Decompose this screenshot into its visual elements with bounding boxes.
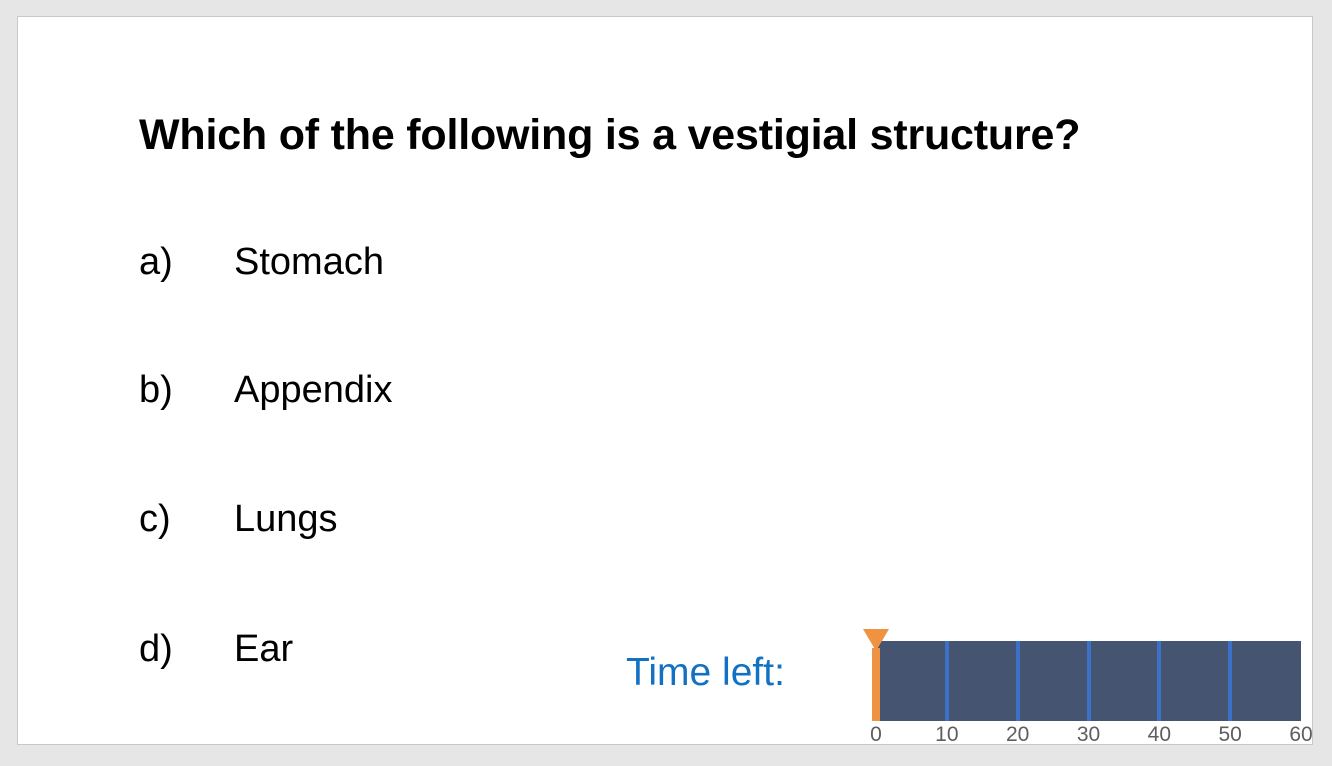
timer-bar-track [876,641,1301,721]
axis-tick-label: 20 [1006,723,1029,747]
chart-gridline [945,641,949,721]
slide-canvas: Which of the following is a vestigial st… [17,16,1313,745]
timer-label: Time left: [626,651,785,695]
axis-tick-label: 30 [1077,723,1100,747]
timer-bar-chart: 0102030405060 [863,609,1302,751]
answer-option-d-letter: d) [139,628,234,671]
countdown-timer-widget: Time left: 0102030405060 [626,609,1302,751]
answer-option-b-text: Appendix [234,369,392,412]
chart-gridline [1016,641,1020,721]
axis-tick-label: 40 [1148,723,1171,747]
answer-option-a-text: Stomach [234,241,384,284]
answer-option-a-letter: a) [139,241,234,284]
answer-option-d-text: Ear [234,628,293,671]
page-title: Which of the following is a vestigial st… [139,111,1080,160]
axis-tick-label: 10 [935,723,958,747]
chart-gridline [1157,641,1161,721]
answer-option-c-letter: c) [139,498,234,541]
axis-tick-label: 50 [1218,723,1241,747]
timer-axis: 0102030405060 [863,721,1302,751]
axis-tick-label: 60 [1289,723,1312,747]
answer-option-c-text: Lungs [234,498,338,541]
answer-option-a[interactable]: a)Stomach [139,241,384,284]
chart-gridline [1087,641,1091,721]
chart-gridline [1228,641,1232,721]
axis-tick-label: 0 [870,723,882,747]
answer-option-d[interactable]: d)Ear [139,628,293,671]
answer-option-b[interactable]: b)Appendix [139,369,392,412]
answer-option-b-letter: b) [139,369,234,412]
answer-option-c[interactable]: c)Lungs [139,498,338,541]
